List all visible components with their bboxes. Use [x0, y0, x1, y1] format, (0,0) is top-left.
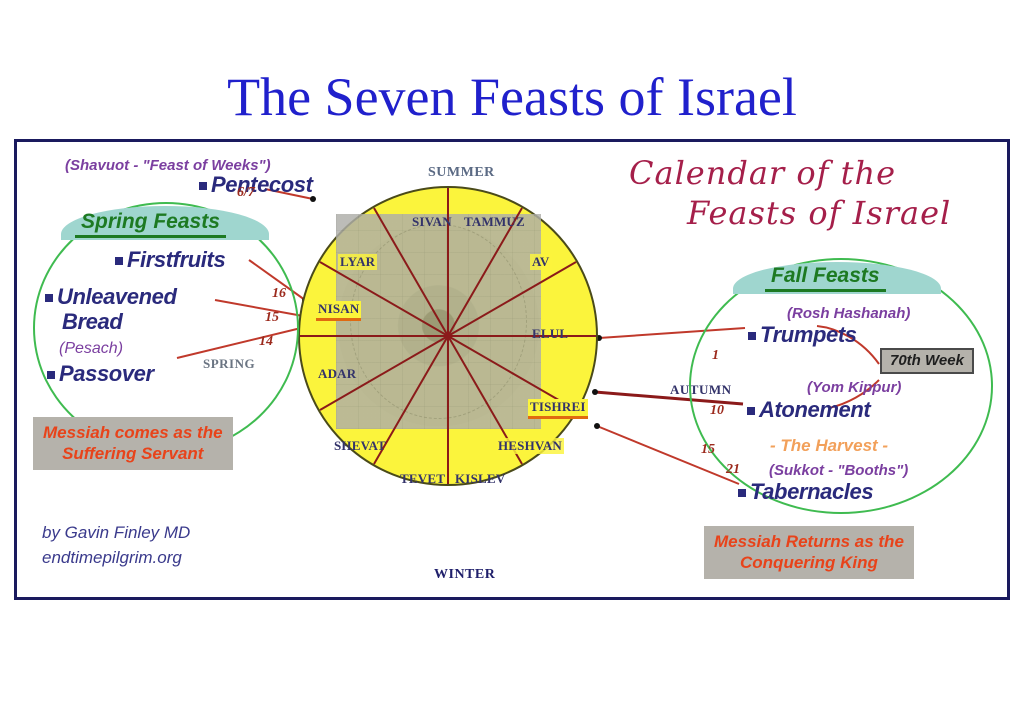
feast-tabernacles[interactable]: Tabernacles: [738, 479, 873, 505]
bullet-icon: [47, 371, 55, 379]
feast-firstfruits[interactable]: Firstfruits: [115, 247, 225, 273]
bullet-icon: [199, 182, 207, 190]
day-number-passover: 14: [259, 334, 273, 350]
season-label-winter: WINTER: [434, 567, 495, 583]
messiah-banner-fall: Messiah Returns as the Conquering King: [704, 526, 914, 579]
feast-trumpets-label: Trumpets: [760, 322, 857, 347]
feast-atonement-label: Atonement: [759, 397, 870, 422]
day-number-tabernacles: 21: [726, 462, 740, 478]
poster-frame: Calendar of the Feasts of Israel: [14, 139, 1010, 600]
bullet-icon: [738, 489, 746, 497]
harvest-note: - The Harvest -: [770, 436, 888, 456]
seventieth-week-box[interactable]: 70th Week: [880, 348, 974, 374]
season-label-summer: SUMMER: [428, 165, 495, 181]
feast-passover[interactable]: Passover: [47, 361, 154, 387]
month-adar: ADAR: [318, 366, 356, 382]
bullet-icon: [748, 332, 756, 340]
day-number-firstfruits: 16: [272, 286, 286, 302]
month-elul: ELUL: [532, 326, 568, 342]
page-title: The Seven Feasts of Israel: [0, 66, 1024, 128]
feast-tabernacles-label: Tabernacles: [750, 479, 873, 504]
feast-trumpets[interactable]: Trumpets: [748, 322, 857, 348]
script-line-2: Feasts of Israel: [617, 193, 1007, 233]
bullet-icon: [45, 294, 53, 302]
day-number-unleavened: 15: [265, 310, 279, 326]
credits-website: endtimepilgrim.org: [42, 545, 190, 570]
month-sivan: SIVAN: [412, 214, 452, 230]
credits: by Gavin Finley MD endtimepilgrim.org: [42, 520, 190, 570]
pesach-alt-name: (Pesach): [59, 340, 123, 358]
spring-feasts-banner: Spring Feasts: [75, 210, 226, 238]
day-number-sukkot-start: 15: [701, 442, 715, 458]
messiah-spring-line1: Messiah comes as the: [43, 422, 223, 443]
feast-pentecost[interactable]: Pentecost: [199, 172, 313, 198]
day-number-pentecost: 6/7: [237, 185, 255, 201]
month-tevet: TEVET: [400, 471, 445, 487]
month-tishrei: TISHREI: [528, 399, 588, 419]
messiah-fall-line1: Messiah Returns as the: [714, 531, 904, 552]
month-av: AV: [530, 254, 552, 270]
feast-unleavened-bread-line2: Bread: [62, 309, 122, 335]
sukkot-alt-name: (Sukkot - "Booths"): [769, 462, 908, 479]
feast-atonement[interactable]: Atonement: [747, 397, 870, 423]
calendar-wheel[interactable]: SIVAN TAMMUZ AV ELUL TISHREI HESHVAN KIS…: [298, 186, 598, 486]
feast-pentecost-label: Pentecost: [211, 172, 313, 197]
credits-author: by Gavin Finley MD: [42, 520, 190, 545]
month-nisan: NISAN: [316, 301, 361, 321]
day-number-atonement: 10: [710, 403, 724, 419]
fall-feasts-banner: Fall Feasts: [765, 264, 886, 292]
calendar-script-heading: Calendar of the Feasts of Israel: [617, 153, 1007, 233]
bullet-icon: [115, 257, 123, 265]
month-lyar: LYAR: [338, 254, 377, 270]
yom-kippur-alt-name: (Yom Kippur): [807, 379, 901, 396]
rosh-hashanah-alt-name: (Rosh Hashanah): [787, 305, 910, 322]
feast-firstfruits-label: Firstfruits: [127, 247, 225, 272]
bullet-icon: [747, 407, 755, 415]
feast-passover-label: Passover: [59, 361, 154, 386]
month-kislev: KISLEV: [455, 471, 505, 487]
month-shevat: SHEVAT: [334, 438, 386, 454]
messiah-spring-line2: Suffering Servant: [43, 443, 223, 464]
script-line-1: Calendar of the: [617, 153, 1007, 193]
feast-unleavened-bread[interactable]: Unleavened: [45, 284, 177, 310]
messiah-fall-line2: Conquering King: [714, 552, 904, 573]
month-heshvan: HESHVAN: [496, 438, 564, 454]
messiah-banner-spring: Messiah comes as the Suffering Servant: [33, 417, 233, 470]
feast-unleavened-label: Unleavened: [57, 284, 177, 309]
day-number-trumpets: 1: [712, 348, 719, 364]
month-tammuz: TAMMUZ: [464, 214, 525, 230]
